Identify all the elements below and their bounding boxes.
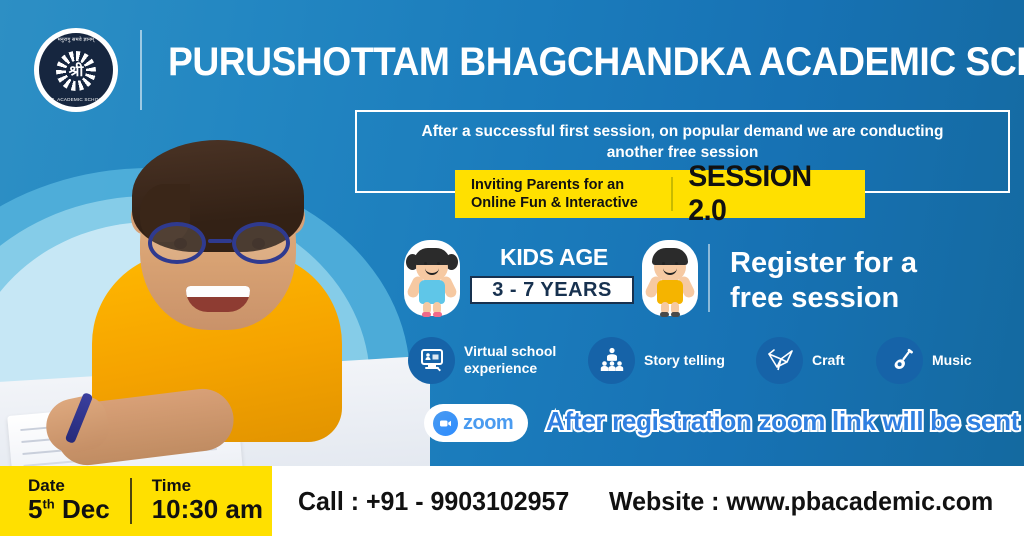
zoom-camera-icon: [433, 411, 458, 436]
origami-crane-icon: [756, 337, 803, 384]
feature-label: Virtual school experience: [464, 343, 556, 377]
figure-shoe-left: [422, 312, 431, 317]
figure-hair: [414, 248, 450, 265]
figure-hair: [652, 248, 688, 265]
student-photo: [0, 96, 400, 488]
session-subtitle: Inviting Parents for an Online Fun & Int…: [455, 176, 671, 212]
lens-left: [148, 222, 206, 264]
phone-contact[interactable]: Call : +91 - 9903102957: [298, 486, 569, 517]
session-title: SESSION 2.0: [673, 160, 855, 228]
feature-label: Music: [932, 352, 972, 369]
guitar-icon: [876, 337, 923, 384]
register-divider: [708, 244, 710, 312]
time-label: Time: [152, 477, 263, 496]
session-subtitle-line-1: Inviting Parents for an: [471, 177, 624, 193]
session-banner: Inviting Parents for an Online Fun & Int…: [455, 170, 865, 218]
page-title: PURUSHOTTAM BHAGCHANDKA ACADEMIC SCHOOL: [168, 40, 1024, 85]
school-logo: मनुरागु समवे ज्ञानम् श्री P.B. ACADEMIC …: [34, 28, 118, 112]
announcement-text: After a successful first session, on pop…: [357, 112, 1008, 164]
announcement-line-2: another free session: [607, 144, 759, 161]
date-label: Date: [28, 477, 110, 496]
figure-shoe-right: [433, 312, 442, 317]
website-contact[interactable]: Website : www.pbacademic.com: [609, 486, 993, 517]
figure-eye-right: [675, 262, 678, 265]
feature-label: Story telling: [644, 352, 725, 369]
register-line-1: Register for a: [730, 247, 917, 279]
feature-virtual-school: Virtual school experience: [408, 331, 556, 389]
datetime-block: Date 5th Dec Time 10:30 am: [0, 466, 272, 536]
date-day: 5: [28, 494, 42, 524]
zoom-logo: zoom: [424, 404, 528, 442]
footer-bar: Date 5th Dec Time 10:30 am Call : +91 - …: [0, 466, 1024, 536]
teeth: [186, 286, 250, 297]
feature-craft: Craft: [756, 331, 845, 389]
date-value: 5th Dec: [28, 495, 110, 525]
zoom-wordmark: zoom: [463, 412, 513, 435]
figure-eye-left: [662, 262, 665, 265]
time-block: Time 10:30 am: [152, 477, 263, 526]
contact-block: Call : +91 - 9903102957 Website : www.pb…: [272, 466, 1024, 536]
datetime-divider: [130, 478, 132, 524]
eyeglasses-icon: [146, 222, 292, 264]
logo-emblem: मनुरागु समवे ज्ञानम् श्री P.B. ACADEMIC …: [39, 33, 113, 107]
logo-sanskrit-motto: मनुरागु समवे ज्ञानम्: [39, 38, 113, 43]
feature-label-line-1: Virtual school: [464, 343, 556, 359]
boy-figure-icon: [642, 240, 698, 316]
feature-label-line-2: experience: [464, 360, 537, 376]
age-group-row: KIDS AGE GROUP 3 - 7 YEARS: [404, 238, 714, 318]
date-ordinal: th: [42, 497, 54, 512]
age-range-badge: 3 - 7 YEARS: [470, 276, 634, 304]
figure-eye-left: [424, 262, 427, 265]
figure-shoe-right: [671, 312, 680, 317]
header-divider: [140, 30, 142, 110]
feature-story-telling: Story telling: [588, 331, 725, 389]
presenter-audience-icon: [588, 337, 635, 384]
logo-shri-glyph: श्री: [69, 64, 84, 79]
lens-right: [232, 222, 290, 264]
features-row: Virtual school experience Story telling: [408, 331, 1008, 389]
feature-label: Craft: [812, 352, 845, 369]
date-month: Dec: [62, 494, 110, 524]
session-subtitle-line-2: Online Fun & Interactive: [471, 195, 638, 211]
promo-banner: मनुरागु समवे ज्ञानम् श्री P.B. ACADEMIC …: [0, 0, 1024, 536]
figure-body: [419, 280, 445, 304]
girl-figure-icon: [404, 240, 460, 316]
announcement-line-1: After a successful first session, on pop…: [422, 123, 944, 140]
figure-eye-right: [437, 262, 440, 265]
logo-sunburst-icon: श्री: [56, 51, 96, 91]
figure-body: [657, 280, 683, 304]
register-line-2: free session: [730, 282, 899, 314]
monitor-teacher-icon: [408, 337, 455, 384]
time-value: 10:30 am: [152, 495, 263, 525]
date-block: Date 5th Dec: [28, 477, 110, 526]
zoom-link-note: After registration zoom link will be sen…: [546, 406, 1019, 437]
feature-music: Music: [876, 331, 972, 389]
glasses-bridge: [208, 239, 232, 243]
mouth: [186, 286, 250, 312]
register-callout: Register for a free session: [730, 246, 917, 317]
logo-school-name: P.B. ACADEMIC SCHOOL: [39, 98, 113, 103]
figure-shoe-left: [660, 312, 669, 317]
